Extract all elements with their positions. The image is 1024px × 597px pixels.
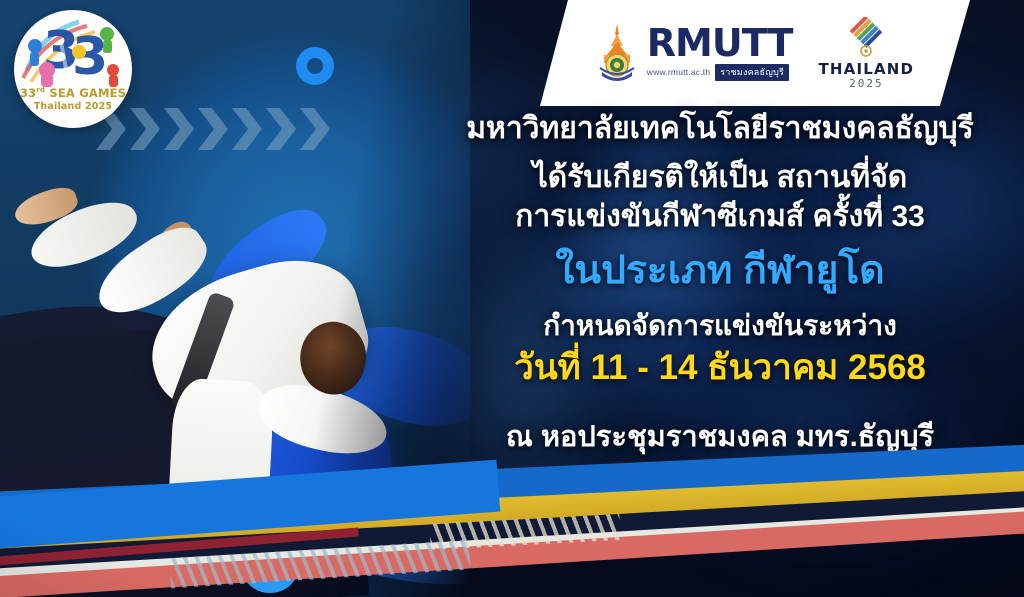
announcement-text-block: มหาวิทยาลัยเทคโนโลยีราชมงคลธัญบุรี ได้รั… [430, 112, 1010, 454]
sea-games-title: 33rd SEA GAMES [20, 86, 126, 100]
sea-games-logo: 3 3 33rd SEA GAMES Thailand 2025 [14, 10, 132, 128]
rmutt-royal-seal-icon [596, 22, 638, 84]
rmutt-wordmark-block: RMUTT www.rmutt.ac.th ราชมงคลธัญบุรี [647, 25, 793, 80]
rmutt-website-url: www.rmutt.ac.th [647, 67, 710, 77]
thailand-year-label: 2025 [849, 77, 884, 90]
thailand-2025-logo: THAILAND 2025 [818, 17, 914, 90]
games-edition-line: การแข่งขันกีฬาซีเกมส์ ครั้งที่ 33 [430, 200, 1010, 235]
blue-ring-top-icon [296, 47, 334, 85]
honored-line: ได้รับเกียรติให้เป็น สถานที่จัด [430, 161, 1010, 196]
university-name-line: มหาวิทยาลัยเทคโนโลยีราชมงคลธัญบุรี [430, 112, 1010, 147]
rmutt-thai-name-tag: ราชมงคลธัญบุรี [715, 64, 789, 81]
rmutt-wordmark: RMUTT [647, 25, 793, 61]
sea-games-judo-poster: 3 3 33rd SEA GAMES Thailand 2025 [0, 0, 1024, 597]
thailand-label: THAILAND [818, 60, 914, 78]
chevron-arrow-strip [96, 104, 346, 154]
schedule-intro-line: กำหนดจัดการแข่งขันระหว่าง [430, 310, 1010, 342]
sea-games-host-year: Thailand 2025 [34, 101, 113, 112]
rmutt-logo: RMUTT www.rmutt.ac.th ราชมงคลธัญบุรี [596, 22, 793, 84]
sponsor-banner: RMUTT www.rmutt.ac.th ราชมงคลธัญบุรี [540, 0, 970, 106]
bottom-diagonal-bands [0, 477, 1024, 597]
sport-category-line: ในประเภท กีฬายูโด [430, 248, 1010, 293]
event-dates-line: วันที่ 11 - 14 ธันวาคม 2568 [430, 348, 1010, 389]
thailand-diamond-emblem-icon [843, 17, 889, 59]
